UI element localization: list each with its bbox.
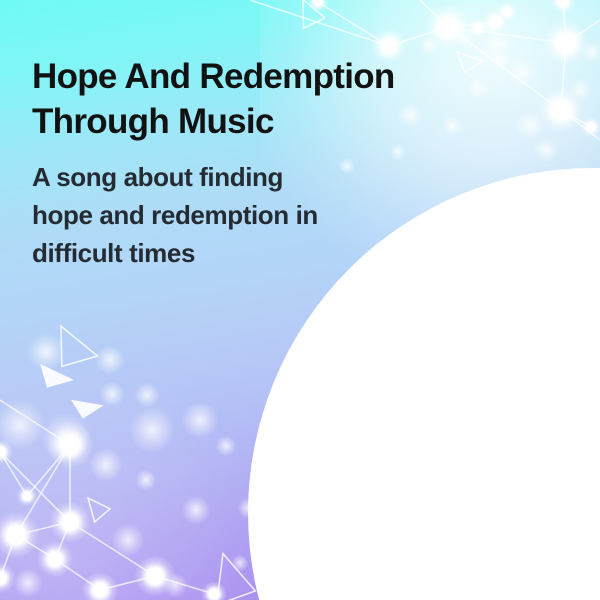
bokeh-dot <box>95 345 124 374</box>
bokeh-dot <box>13 568 42 597</box>
network-node-glow <box>47 422 94 469</box>
network-node-glow <box>37 541 73 577</box>
network-node-glow <box>134 555 176 597</box>
cover-subtitle: A song about finding hope and redemption… <box>32 158 342 272</box>
network-node-glow <box>0 439 13 465</box>
network-node-glow <box>308 0 329 12</box>
network-node-glow <box>82 572 118 600</box>
network-node <box>503 8 511 16</box>
bokeh-dot <box>181 401 219 439</box>
bokeh-dot <box>99 381 124 406</box>
network-edge <box>155 576 214 594</box>
bokeh-dot <box>111 523 145 557</box>
network-node <box>558 0 568 6</box>
network-node <box>93 583 107 597</box>
network-edge <box>0 452 27 496</box>
network-node <box>23 492 31 500</box>
network-edge <box>16 445 70 535</box>
network-edge <box>100 576 155 590</box>
bokeh-dot <box>567 77 592 102</box>
bokeh-dot <box>232 555 249 572</box>
network-node-glow <box>550 0 576 14</box>
network-edge <box>55 522 70 559</box>
decorative-triangle <box>49 326 103 376</box>
network-node-glow <box>581 117 600 138</box>
cover-text-block: Hope And Redemption Through Music A song… <box>32 54 432 272</box>
bokeh-dot <box>136 470 157 491</box>
network-node <box>552 101 570 119</box>
network-node-glow <box>49 501 91 543</box>
network-node <box>382 39 396 53</box>
network-edge <box>318 2 389 46</box>
network-edge <box>448 27 561 110</box>
network-edge <box>55 559 100 590</box>
network-edge <box>389 27 448 46</box>
bokeh-dot <box>0 400 45 450</box>
bokeh-dot <box>420 35 441 56</box>
network-node-glow <box>538 87 585 134</box>
bokeh-dot <box>468 78 489 99</box>
bokeh-dot <box>216 436 237 457</box>
decorative-triangle <box>71 396 105 419</box>
network-node <box>587 123 595 131</box>
bokeh-dot <box>134 382 159 407</box>
network-edge <box>27 445 70 496</box>
network-node-glow <box>17 486 38 507</box>
network-node-glow <box>201 581 227 600</box>
song-cover-card: Hope And Redemption Through Music A song… <box>0 0 600 600</box>
network-node <box>557 34 575 52</box>
network-edge <box>0 452 70 522</box>
page-title: Hope And Redemption Through Music <box>32 54 432 144</box>
bokeh-dot <box>582 42 600 63</box>
network-edge <box>448 22 495 27</box>
network-edge <box>16 535 55 559</box>
network-node <box>48 552 62 566</box>
decorative-triangle <box>296 0 328 33</box>
network-node <box>0 572 6 584</box>
network-edge <box>0 400 70 445</box>
network-edge <box>561 43 566 110</box>
bokeh-dot <box>508 57 537 86</box>
network-node-glow <box>0 512 39 559</box>
bokeh-dot <box>455 28 476 49</box>
glow-wash-bottom-left <box>0 370 270 600</box>
network-node <box>474 24 482 32</box>
bokeh-dot <box>162 572 187 597</box>
network-node-glow <box>482 9 508 35</box>
network-node-glow <box>425 4 472 51</box>
network-edge <box>561 110 600 140</box>
network-node <box>314 0 322 6</box>
bokeh-dot <box>533 137 558 162</box>
network-node <box>490 17 500 27</box>
bokeh-dot <box>129 407 175 453</box>
network-edge <box>566 20 600 43</box>
network-edge <box>250 0 389 46</box>
decorative-triangle <box>36 364 75 392</box>
network-node-glow <box>0 562 16 593</box>
network-edge <box>16 522 70 535</box>
network-edge <box>563 1 566 43</box>
network-node <box>439 18 457 36</box>
network-node <box>0 447 5 457</box>
network-edge <box>70 522 155 576</box>
network-node-glow <box>468 18 489 39</box>
bokeh-dot <box>41 413 91 463</box>
network-node <box>61 436 79 454</box>
network-node-glow <box>497 2 518 23</box>
network-edge <box>561 110 591 127</box>
decorative-triangle <box>88 498 110 522</box>
bokeh-dot <box>484 31 509 56</box>
network-node-glow <box>543 20 590 67</box>
network-edge <box>448 27 566 43</box>
bokeh-dot <box>89 448 123 482</box>
network-node <box>62 514 78 530</box>
network-node <box>7 526 25 544</box>
bokeh-dot <box>181 495 210 524</box>
bokeh-dot <box>515 110 544 139</box>
network-edge <box>0 535 16 578</box>
bokeh-dot <box>490 50 511 71</box>
network-edge <box>420 0 448 27</box>
bokeh-dot <box>27 333 65 371</box>
decorative-triangle <box>457 52 483 72</box>
network-node <box>209 589 219 599</box>
network-node <box>147 568 163 584</box>
bokeh-dot <box>442 116 463 137</box>
